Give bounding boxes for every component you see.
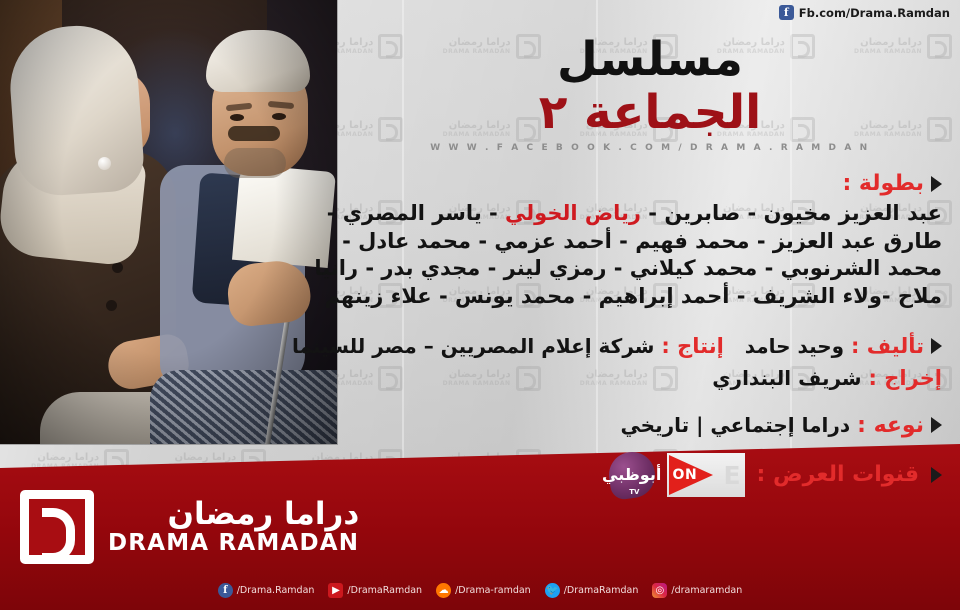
info-column: مسلسل الجماعة ٢ W W W . F A C E B O O K … [340, 0, 960, 498]
cast-names: - ياسر المصري - [327, 201, 505, 225]
social-handle: /dramaramdan [671, 585, 742, 596]
cast-line: طارق عبد العزيز - محمد فهيم - أحمد عزمي … [340, 228, 942, 256]
social-handle: /Drama.Ramdan [237, 585, 315, 596]
cast-names: عبد العزيز مخيون - صابرين - [641, 201, 942, 225]
cast-names: طارق عبد العزيز - محمد فهيم - أحمد عزمي … [342, 229, 942, 253]
bullet-triangle-icon [931, 417, 942, 433]
twitter-icon: 🐦 [545, 583, 560, 598]
soundcloud-icon: ☁ [436, 583, 451, 598]
bullet-triangle-icon [931, 176, 942, 192]
cast-list: عبد العزيز مخيون - صابرين - رياض الخولي … [340, 200, 942, 311]
cast-line: محمد الشرنوبي - محمد كيلاني - رمزي لينر … [340, 255, 942, 283]
e-logo-text: E [723, 461, 740, 490]
social-link[interactable]: f/Drama.Ramdan [218, 583, 315, 598]
social-handle: /DramaRamdan [564, 585, 639, 596]
facebook-badge[interactable]: f Fb.com/Drama.Ramdan [779, 5, 950, 20]
abu-dhabi-tv-text: TV [629, 488, 639, 496]
facebook-badge-text: Fb.com/Drama.Ramdan [799, 6, 950, 20]
cast-section: بطولة : عبد العزيز مخيون - صابرين - رياض… [340, 171, 942, 311]
cast-line: ملاح -ولاء الشريف - أحمد إبراهيم - محمد … [340, 283, 942, 311]
cast-names: ملاح -ولاء الشريف - أحمد إبراهيم - محمد … [324, 284, 942, 308]
abu-dhabi-tv-logo[interactable]: أبوظبي TV [606, 449, 658, 501]
photo-vignette [0, 0, 337, 444]
cast-line: عبد العزيز مخيون - صابرين - رياض الخولي … [340, 200, 942, 228]
producer-label: إنتاج : [661, 334, 723, 358]
writer-producer-row: تأليف : وحيد حامد إنتاج : شركة إعلام الم… [292, 331, 924, 361]
writer-label: تأليف : [851, 334, 924, 358]
brand-name-arabic: دراما رمضان [108, 498, 359, 531]
series-title: الجماعة ٢ [340, 89, 942, 136]
social-link[interactable]: ▶/DramaRamdan [328, 583, 422, 598]
page-url: W W W . F A C E B O O K . C O M / D R A … [340, 143, 942, 153]
genre-label: نوعه : [857, 413, 924, 438]
director-label: إخراج : [869, 366, 942, 390]
cast-names: محمد الشرنوبي - محمد كيلاني - رمزي لينر … [314, 256, 942, 280]
facebook-icon: f [779, 5, 794, 20]
social-handle: /DramaRamdan [347, 585, 422, 596]
drama-ramadan-d-icon [20, 490, 94, 564]
director-row: إخراج : شريف البنداري [340, 363, 942, 393]
social-links: f/Drama.Ramdan▶/DramaRamdan☁/Drama-ramda… [0, 583, 960, 598]
on-logo-text: ON [673, 467, 698, 483]
cast-name-highlighted: رياض الخولي [505, 201, 641, 225]
series-label: مسلسل [340, 36, 942, 83]
instagram-icon: ◎ [652, 583, 667, 598]
director-value: شريف البنداري [712, 366, 861, 390]
writer-value: وحيد حامد [745, 334, 844, 358]
bullet-triangle-icon [931, 467, 942, 483]
bullet-triangle-icon [931, 338, 942, 354]
on-e-channel-logo[interactable]: ON E [667, 453, 745, 497]
facebook-icon: f [218, 583, 233, 598]
social-link[interactable]: 🐦/DramaRamdan [545, 583, 639, 598]
abu-dhabi-logo-text: أبوظبي [602, 467, 661, 483]
social-handle: /Drama-ramdan [455, 585, 531, 596]
cast-label: بطولة : [842, 171, 924, 196]
credits-section: تأليف : وحيد حامد إنتاج : شركة إعلام الم… [340, 331, 942, 394]
channels-section: قنوات العرض : ON E أبوظبي TV [340, 452, 942, 498]
social-link[interactable]: ☁/Drama-ramdan [436, 583, 531, 598]
producer-value: شركة إعلام المصريين – مصر للسينما [292, 334, 654, 358]
brand-logo: دراما رمضان DRAMA RAMADAN [20, 490, 359, 564]
social-link[interactable]: ◎/dramaramdan [652, 583, 742, 598]
genre-value: دراما إجتماعي | تاريخي [620, 413, 850, 437]
poster-canvas: دراما رمضانDRAMA RAMADANدراما رمضانDRAMA… [0, 0, 960, 610]
series-still-photo [0, 0, 337, 444]
genre-section: نوعه : دراما إجتماعي | تاريخي [340, 413, 942, 438]
youtube-icon: ▶ [328, 583, 343, 598]
brand-name-english: DRAMA RAMADAN [108, 531, 359, 556]
channels-label: قنوات العرض : [757, 462, 919, 487]
